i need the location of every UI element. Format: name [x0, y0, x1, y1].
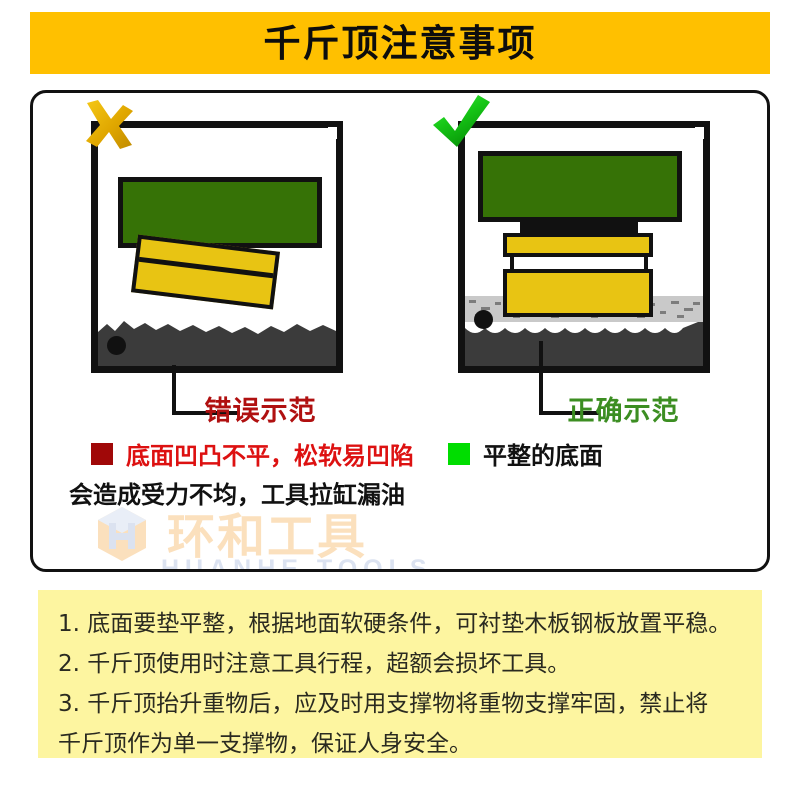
instruction-line-4: 千斤顶作为单一支撑物，保证人身安全。 [58, 724, 746, 764]
wrong-legend-row: 底面凹凸不平，松软易凹陷 [91, 436, 414, 471]
wrong-marker-dot [107, 336, 126, 355]
correct-marker-dot [474, 310, 493, 329]
correct-legend-text: 平整的底面 [483, 436, 603, 471]
wrong-example-panel: 错误示范 底面凹凸不平，松软易凹陷 会造成受力不均，工具拉缸漏油 [33, 93, 400, 569]
instruction-line-2: 2. 千斤顶使用时注意工具行程，超额会损坏工具。 [58, 644, 746, 684]
check-mark-icon [428, 93, 494, 155]
jack-ram-plate [503, 233, 653, 257]
uneven-ground [98, 310, 336, 366]
correct-scene [458, 121, 710, 373]
correct-legend-row: 平整的底面 [448, 436, 603, 471]
wrong-scene [91, 121, 343, 373]
jack-body [503, 269, 653, 317]
correct-caption: 正确示范 [400, 389, 770, 428]
instruction-line-3: 3. 千斤顶抬升重物后，应及时用支撑物将重物支撑牢固，禁止将 [58, 684, 746, 724]
wrong-legend-text: 底面凹凸不平，松软易凹陷 [126, 436, 414, 471]
frame-notch [695, 127, 704, 139]
wrong-legend-swatch [91, 443, 113, 465]
frame-notch [328, 127, 337, 139]
header-banner: 千斤顶注意事项 [30, 12, 770, 74]
load-block [478, 151, 682, 222]
x-mark-icon [79, 97, 137, 155]
jack-divider-line [138, 257, 273, 278]
correct-legend-swatch [448, 443, 470, 465]
page-title: 千斤顶注意事项 [264, 25, 537, 62]
wrong-caption: 错误示范 [33, 389, 444, 428]
instruction-line-1: 1. 底面要垫平整，根据地面软硬条件，可衬垫木板钢板放置平稳。 [58, 604, 746, 644]
correct-example-panel: 正确示范 平整的底面 [400, 93, 767, 569]
instructions-panel: 1. 底面要垫平整，根据地面软硬条件，可衬垫木板钢板放置平稳。 2. 千斤顶使用… [38, 590, 762, 758]
wrong-legend-subtext: 会造成受力不均，工具拉缸漏油 [69, 475, 405, 510]
diagram-card: 错误示范 底面凹凸不平，松软易凹陷 会造成受力不均，工具拉缸漏油 [30, 90, 770, 572]
